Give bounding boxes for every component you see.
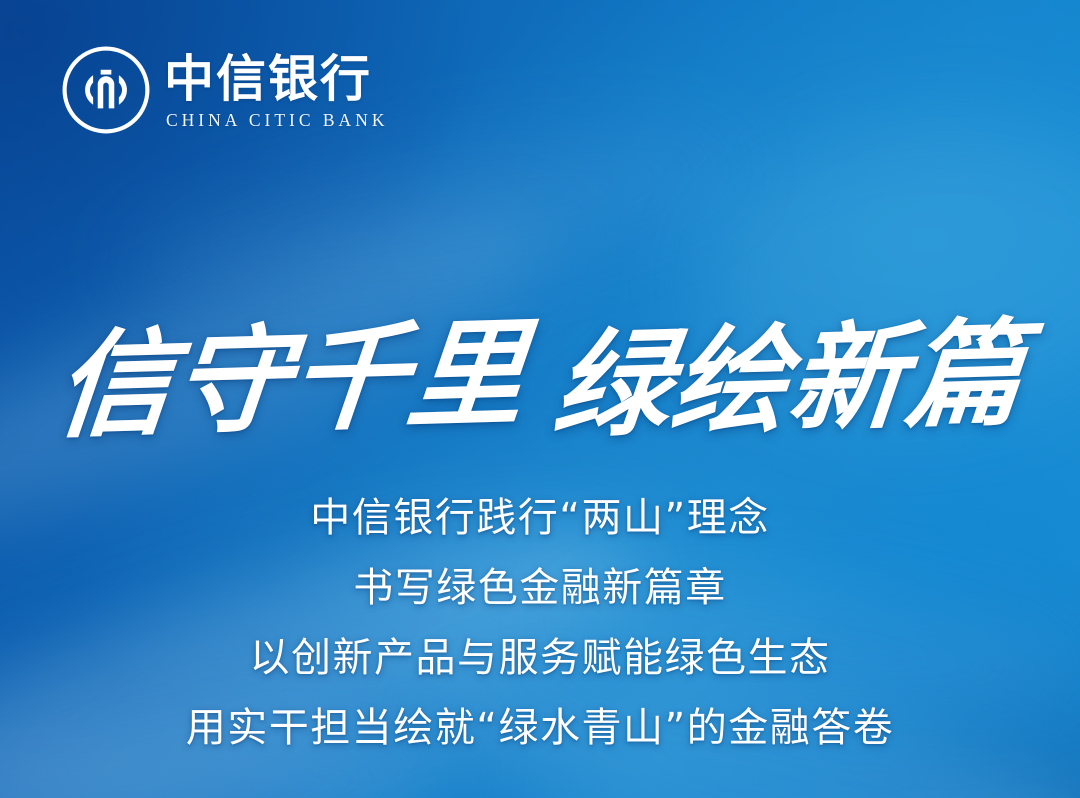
citic-circular-emblem-icon	[60, 44, 152, 136]
citic-bank-logo: 中信银行 CHINA CITIC BANK	[60, 44, 388, 136]
poster-body-copy: 中信银行践行“两山”理念 书写绿色金融新篇章 以创新产品与服务赋能绿色生态 用实…	[0, 483, 1080, 763]
headline-part-two: 绿绘新篇	[548, 309, 1030, 452]
poster-headline: 信守千里绿绘新篇	[0, 316, 1080, 446]
body-copy-line-2: 书写绿色金融新篇章	[0, 553, 1080, 623]
body-copy-line-1: 中信银行践行“两山”理念	[0, 483, 1080, 553]
headline-part-one: 信守千里	[50, 309, 532, 452]
body-copy-line-3: 以创新产品与服务赋能绿色生态	[0, 623, 1080, 693]
body-copy-line-4: 用实干担当绘就“绿水青山”的金融答卷	[0, 693, 1080, 763]
logo-chinese-name: 中信银行	[164, 52, 388, 105]
poster-canvas: 中信银行 CHINA CITIC BANK 信守千里绿绘新篇 中信银行践行“两山…	[0, 0, 1080, 798]
logo-wordmark: 中信银行 CHINA CITIC BANK	[164, 50, 388, 131]
logo-english-name: CHINA CITIC BANK	[164, 110, 388, 131]
